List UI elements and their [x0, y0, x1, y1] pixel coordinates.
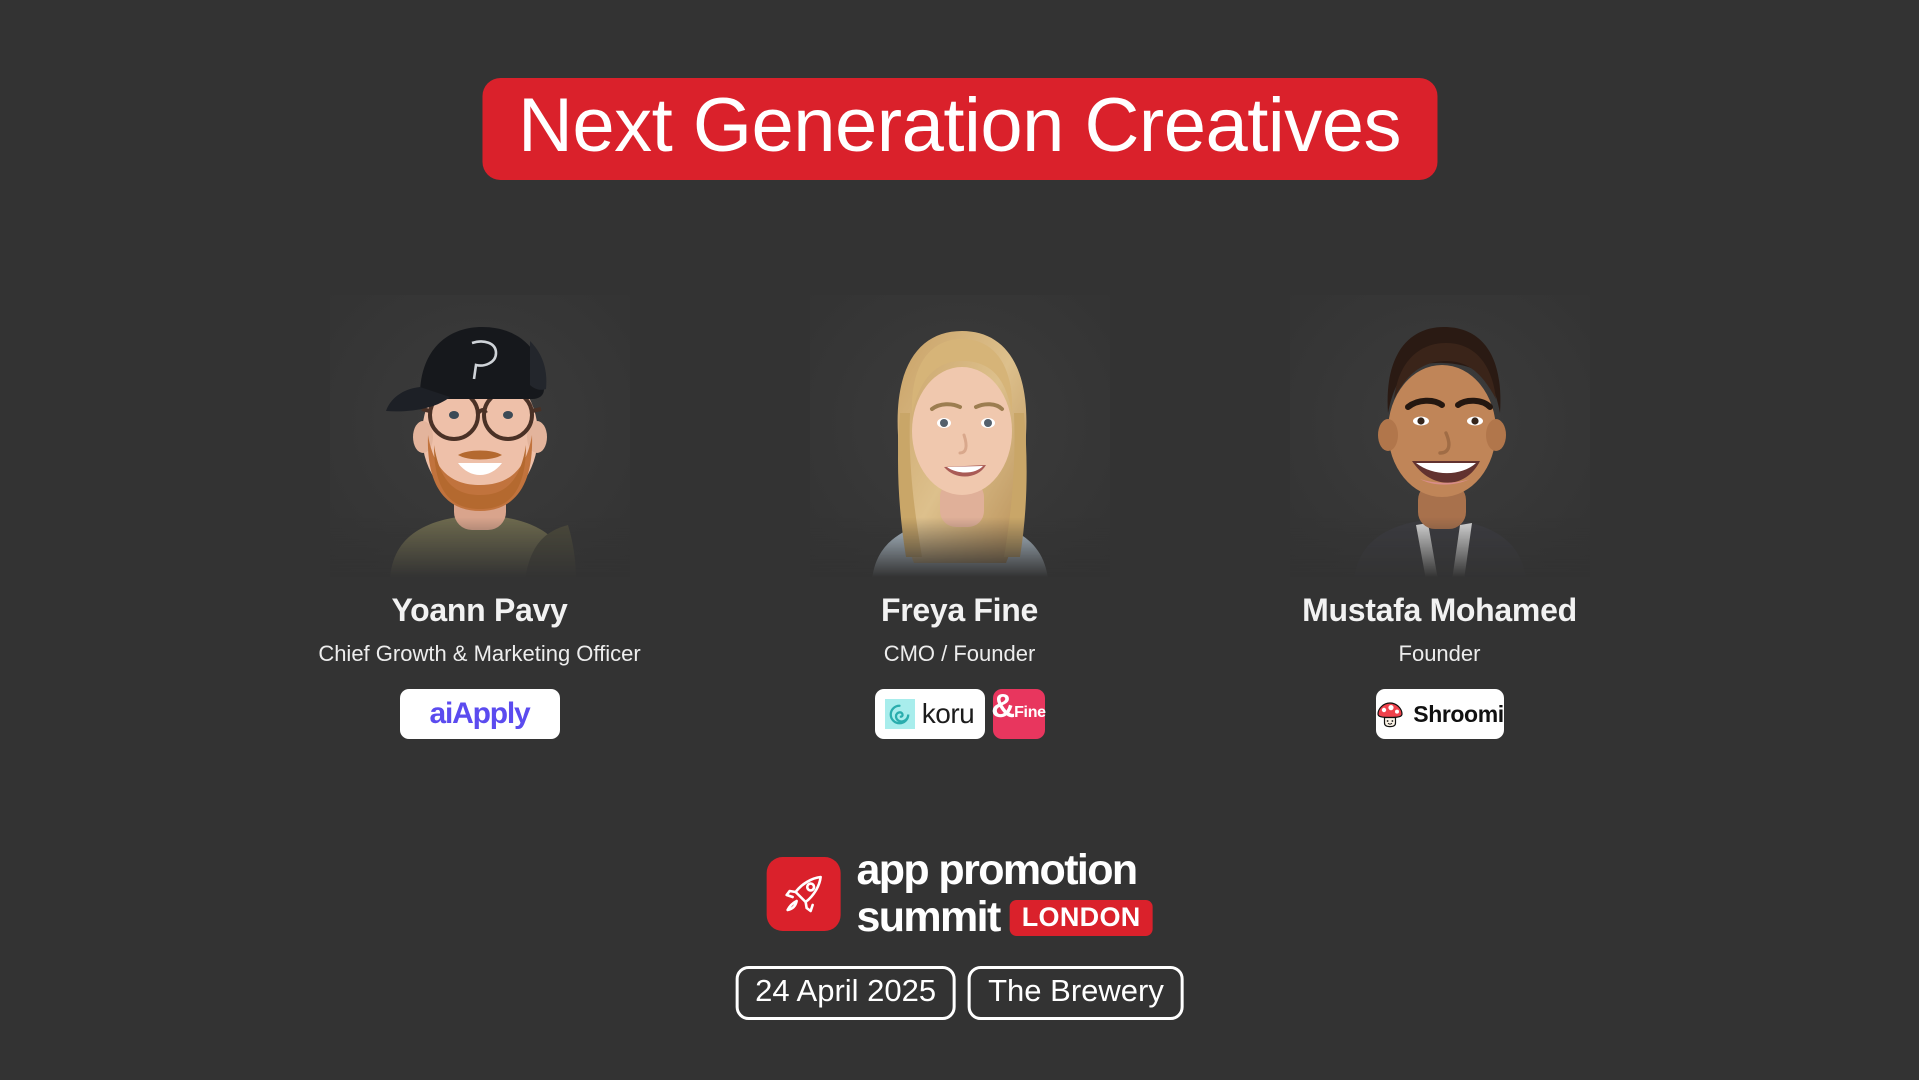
speaker-role: Chief Growth & Marketing Officer	[318, 641, 640, 667]
event-city-badge: LONDON	[1010, 900, 1153, 936]
aiapply-wordmark: aiApply	[430, 697, 530, 731]
company-logo-koru[interactable]: koru	[875, 689, 985, 739]
speaker-card-1: Yoann Pavy Chief Growth & Marketing Offi…	[290, 295, 670, 739]
speaker-card-3: Mustafa Mohamed Founder	[1250, 295, 1630, 739]
fine-wordmark: Fine	[1014, 705, 1046, 721]
event-footer: app promotion summit LONDON 24 April 202…	[735, 848, 1184, 1020]
mushroom-icon	[1375, 699, 1405, 729]
title-banner: Next Generation Creatives	[482, 78, 1437, 180]
rocket-icon	[766, 857, 840, 931]
speaker-role: Founder	[1399, 641, 1481, 667]
speaker-name: Yoann Pavy	[391, 592, 567, 629]
speaker-photo-yoann-pavy	[330, 295, 630, 580]
koru-wordmark: koru	[922, 698, 974, 730]
company-logo-shroomi[interactable]: Shroomi	[1376, 689, 1504, 739]
event-date-pill: 24 April 2025	[735, 966, 956, 1020]
speaker-name: Mustafa Mohamed	[1302, 592, 1577, 629]
speaker-name: Freya Fine	[881, 592, 1038, 629]
company-logo-aiapply[interactable]: aiApply ✦	[400, 689, 560, 739]
ampersand-glyph: &	[991, 689, 1014, 722]
speaker-role: CMO / Founder	[884, 641, 1036, 667]
event-logo-summit: summit	[856, 895, 999, 940]
page-title: Next Generation Creatives	[518, 88, 1401, 164]
event-logo-line1: app promotion	[856, 848, 1152, 893]
event-venue-pill: The Brewery	[968, 966, 1184, 1020]
event-logo[interactable]: app promotion summit LONDON	[766, 848, 1152, 940]
shroomi-wordmark: Shroomi	[1413, 701, 1503, 728]
company-logos: Shroomi	[1376, 689, 1504, 739]
speaker-card-2: Freya Fine CMO / Founder koru & Fine	[770, 295, 1150, 739]
company-logos: aiApply ✦	[400, 689, 560, 739]
company-logos: koru & Fine	[875, 689, 1045, 739]
speakers-row: Yoann Pavy Chief Growth & Marketing Offi…	[0, 295, 1919, 739]
event-wordmark: app promotion summit LONDON	[856, 848, 1152, 940]
event-logo-line2: summit LONDON	[856, 895, 1152, 940]
spiral-icon	[885, 699, 915, 729]
speaker-photo-freya-fine	[810, 295, 1110, 580]
slide-canvas: Next Generation Creatives	[0, 0, 1919, 1080]
speaker-photo-mustafa-mohamed	[1290, 295, 1590, 580]
company-logo-and-fine[interactable]: & Fine	[993, 689, 1045, 739]
event-meta-row: 24 April 2025 The Brewery	[735, 966, 1184, 1020]
